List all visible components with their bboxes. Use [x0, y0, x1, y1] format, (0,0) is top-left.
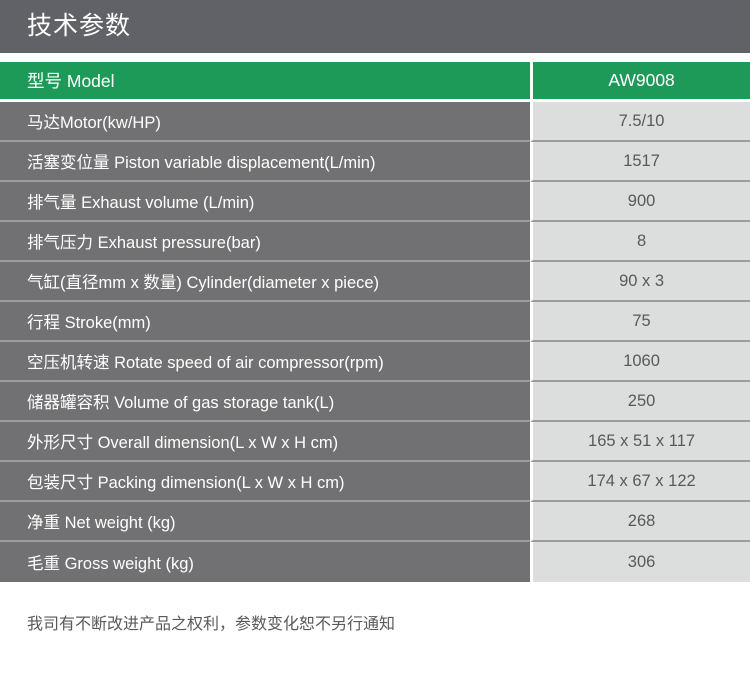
row-value: 250 [530, 382, 750, 422]
table-row: 气缸(直径mm x 数量) Cylinder(diameter x piece)… [0, 262, 750, 302]
table-row: 储器罐容积 Volume of gas storage tank(L) 250 [0, 382, 750, 422]
row-value: 174 x 67 x 122 [530, 462, 750, 502]
row-label: 马达Motor(kw/HP) [0, 102, 530, 142]
table-header-value: AW9008 [530, 62, 750, 102]
table-row: 活塞变位量 Piston variable displacement(L/min… [0, 142, 750, 182]
spec-sheet-page: 技术参数 型号 Model AW9008 马达Motor(kw/HP) 7.5/… [0, 0, 750, 674]
row-label: 排气量 Exhaust volume (L/min) [0, 182, 530, 222]
table-row: 毛重 Gross weight (kg) 306 [0, 542, 750, 582]
table-row: 排气量 Exhaust volume (L/min) 900 [0, 182, 750, 222]
row-value: 8 [530, 222, 750, 262]
row-label: 空压机转速 Rotate speed of air compressor(rpm… [0, 342, 530, 382]
row-label: 毛重 Gross weight (kg) [0, 542, 530, 582]
table-row: 马达Motor(kw/HP) 7.5/10 [0, 102, 750, 142]
table-row: 空压机转速 Rotate speed of air compressor(rpm… [0, 342, 750, 382]
row-value: 7.5/10 [530, 102, 750, 142]
table-row: 外形尺寸 Overall dimension(L x W x H cm) 165… [0, 422, 750, 462]
specifications-table: 型号 Model AW9008 马达Motor(kw/HP) 7.5/10 活塞… [0, 62, 750, 582]
disclaimer-note: 我司有不断改进产品之权利，参数变化恕不另行通知 [0, 612, 750, 638]
row-value: 306 [530, 542, 750, 582]
row-value: 90 x 3 [530, 262, 750, 302]
row-label: 气缸(直径mm x 数量) Cylinder(diameter x piece) [0, 262, 530, 302]
table-body: 型号 Model AW9008 马达Motor(kw/HP) 7.5/10 活塞… [0, 62, 750, 582]
table-row: 排气压力 Exhaust pressure(bar) 8 [0, 222, 750, 262]
row-label: 包装尺寸 Packing dimension(L x W x H cm) [0, 462, 530, 502]
row-value: 1517 [530, 142, 750, 182]
row-value: 165 x 51 x 117 [530, 422, 750, 462]
page-title: 技术参数 [0, 14, 131, 39]
table-header-label: 型号 Model [0, 62, 530, 102]
table-row: 净重 Net weight (kg) 268 [0, 502, 750, 542]
row-label: 排气压力 Exhaust pressure(bar) [0, 222, 530, 262]
row-value: 1060 [530, 342, 750, 382]
section-banner: 技术参数 [0, 0, 750, 53]
table-row: 行程 Stroke(mm) 75 [0, 302, 750, 342]
row-label: 储器罐容积 Volume of gas storage tank(L) [0, 382, 530, 422]
row-label: 行程 Stroke(mm) [0, 302, 530, 342]
row-value: 900 [530, 182, 750, 222]
row-label: 外形尺寸 Overall dimension(L x W x H cm) [0, 422, 530, 462]
table-header-row: 型号 Model AW9008 [0, 62, 750, 102]
row-value: 75 [530, 302, 750, 342]
row-value: 268 [530, 502, 750, 542]
row-label: 活塞变位量 Piston variable displacement(L/min… [0, 142, 530, 182]
row-label: 净重 Net weight (kg) [0, 502, 530, 542]
table-row: 包装尺寸 Packing dimension(L x W x H cm) 174… [0, 462, 750, 502]
